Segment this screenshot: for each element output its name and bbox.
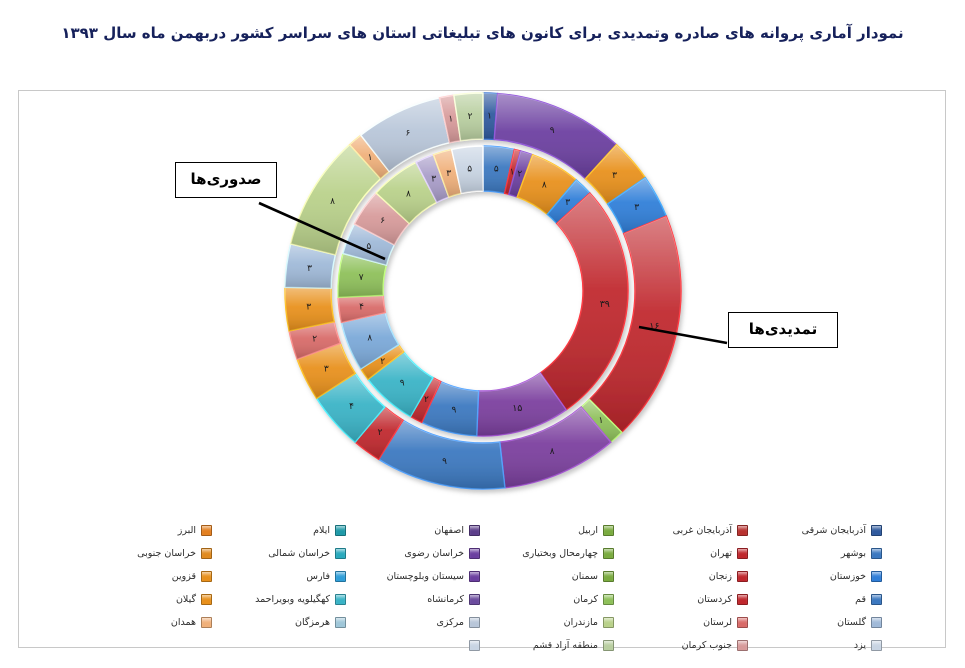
legend-item[interactable]: تهران [618, 542, 748, 565]
legend-item[interactable]: خراسان شمالی [216, 542, 346, 565]
legend-item-label: آذربایجان غربی [673, 525, 732, 536]
legend-color-swatch [737, 571, 748, 582]
legend-item[interactable]: گیلان [82, 588, 212, 611]
legend-color-swatch [201, 571, 212, 582]
legend-item-label: تهران [710, 548, 732, 559]
legend-item-label: سمنان [572, 571, 598, 582]
legend-item-label: خراسان شمالی [268, 548, 330, 559]
legend-item-label: قم [855, 594, 866, 605]
legend-color-swatch [603, 617, 614, 628]
legend-color-swatch [335, 594, 346, 605]
legend-item[interactable]: آذربایجان غربی [618, 519, 748, 542]
legend-color-swatch [603, 525, 614, 536]
legend-item-label: آذربایجان شرقی [802, 525, 866, 536]
legend-item[interactable]: گلستان [752, 611, 882, 634]
legend-item-label: مرکزی [436, 617, 464, 628]
legend-item-label: زنجان [709, 571, 732, 582]
legend-item[interactable]: ایلام [216, 519, 346, 542]
legend-item[interactable]: فارس [216, 565, 346, 588]
legend-color-swatch [871, 640, 882, 651]
legend-item[interactable]: زنجان [618, 565, 748, 588]
legend-item[interactable]: کهگیلویه وبویراحمد [216, 588, 346, 611]
legend-color-swatch [737, 640, 748, 651]
legend-color-swatch [603, 548, 614, 559]
legend-color-swatch [737, 548, 748, 559]
legend-color-swatch [335, 571, 346, 582]
legend-item[interactable]: بوشهر [752, 542, 882, 565]
legend-item-label: خراسان رضوی [404, 548, 464, 559]
legend-item-label: اصفهان [434, 525, 464, 536]
legend-item-label: خوزستان [830, 571, 866, 582]
legend-item[interactable]: البرز [82, 519, 212, 542]
legend-color-swatch [737, 525, 748, 536]
legend-color-swatch [871, 525, 882, 536]
legend-item-label: کرمان [573, 594, 598, 605]
legend-item[interactable]: کردستان [618, 588, 748, 611]
legend-item-label: قزوین [172, 571, 196, 582]
legend-color-swatch [603, 594, 614, 605]
legend-item[interactable]: آذربایجان شرقی [752, 519, 882, 542]
legend-color-swatch [469, 640, 480, 651]
legend-item[interactable]: سمنان [484, 565, 614, 588]
donut-chart-svg: ۱۹۳۳۱۶۱۸۹۲۴۳۲۳۳۸۱۶۱۲ ۵۱۲۸۳۳۹۱۵۹۲۹۲۸۴۷۵۶۸… [19, 91, 947, 506]
legend-color-swatch [201, 617, 212, 628]
legend-color-swatch [871, 617, 882, 628]
legend-item-label: مازندران [564, 617, 598, 628]
legend-color-swatch [737, 617, 748, 628]
legend-color-swatch [871, 571, 882, 582]
legend-color-swatch [469, 525, 480, 536]
callout-tamdidi: تمدیدی‌ها [728, 312, 838, 348]
chart-legend: آذربایجان شرقیآذربایجان غربیاربیلاصفهانا… [19, 509, 945, 645]
legend-item[interactable]: خراسان جنوبی [82, 542, 212, 565]
legend-item[interactable]: هرمزگان [216, 611, 346, 634]
legend-item[interactable]: منطقه آزاد قشم [484, 634, 614, 657]
legend-item[interactable]: قم [752, 588, 882, 611]
legend-item-label: منطقه آزاد قشم [533, 640, 598, 651]
legend-item[interactable]: کرمان [484, 588, 614, 611]
legend-item[interactable]: سیستان وبلوچستان [350, 565, 480, 588]
legend-item[interactable]: اصفهان [350, 519, 480, 542]
legend-color-swatch [335, 617, 346, 628]
legend-color-swatch [871, 548, 882, 559]
legend-item[interactable] [350, 634, 480, 657]
legend-item-label: فارس [306, 571, 330, 582]
legend-color-swatch [469, 571, 480, 582]
legend-item[interactable]: یزد [752, 634, 882, 657]
legend-color-swatch [871, 594, 882, 605]
legend-color-swatch [603, 571, 614, 582]
legend-item[interactable]: خوزستان [752, 565, 882, 588]
legend-color-swatch [201, 525, 212, 536]
legend-item-label: ایلام [313, 525, 330, 536]
legend-item-label: کهگیلویه وبویراحمد [255, 594, 330, 605]
legend-color-swatch [201, 548, 212, 559]
legend-item-label: لرستان [703, 617, 732, 628]
legend-color-swatch [603, 640, 614, 651]
legend-item[interactable]: کرمانشاه [350, 588, 480, 611]
legend-item-label: گلستان [837, 617, 866, 628]
legend-item-label: جنوب کرمان [682, 640, 732, 651]
chart-title: نمودار آماری پروانه های صادره وتمدیدی بر… [0, 22, 965, 45]
legend-item[interactable]: قزوین [82, 565, 212, 588]
legend-item-label: یزد [854, 640, 866, 651]
donut-chart: ۱۹۳۳۱۶۱۸۹۲۴۳۲۳۳۸۱۶۱۲ ۵۱۲۸۳۳۹۱۵۹۲۹۲۸۴۷۵۶۸… [19, 91, 947, 506]
legend-item-label: کردستان [697, 594, 732, 605]
legend-item-label: گیلان [176, 594, 196, 605]
legend-item-label: البرز [178, 525, 196, 536]
legend-color-swatch [335, 525, 346, 536]
legend-item[interactable]: مازندران [484, 611, 614, 634]
legend-item-label: همدان [171, 617, 196, 628]
legend-color-swatch [737, 594, 748, 605]
legend-item-label: سیستان وبلوچستان [387, 571, 464, 582]
legend-color-swatch [469, 617, 480, 628]
callout-sodouri: صدوری‌ها [175, 162, 277, 198]
chart-plot-frame: ۱۹۳۳۱۶۱۸۹۲۴۳۲۳۳۸۱۶۱۲ ۵۱۲۸۳۳۹۱۵۹۲۹۲۸۴۷۵۶۸… [18, 90, 946, 648]
legend-color-swatch [469, 594, 480, 605]
legend-item[interactable]: جنوب کرمان [618, 634, 748, 657]
legend-item[interactable]: اربیل [484, 519, 614, 542]
legend-color-swatch [201, 594, 212, 605]
legend-item-label: کرمانشاه [427, 594, 464, 605]
legend-item-label: اربیل [578, 525, 598, 536]
legend-item-label: چهارمحال وبختیاری [522, 548, 598, 559]
legend-item[interactable]: لرستان [618, 611, 748, 634]
legend-color-swatch [469, 548, 480, 559]
legend-item[interactable]: مرکزی [350, 611, 480, 634]
legend-item-label: هرمزگان [295, 617, 330, 628]
legend-item[interactable]: همدان [82, 611, 212, 634]
legend-item[interactable]: چهارمحال وبختیاری [484, 542, 614, 565]
legend-item-label: خراسان جنوبی [137, 548, 196, 559]
legend-color-swatch [335, 548, 346, 559]
legend-item[interactable]: خراسان رضوی [350, 542, 480, 565]
legend-grid: آذربایجان شرقیآذربایجان غربیاربیلاصفهانا… [19, 519, 945, 657]
legend-item-label: بوشهر [841, 548, 866, 559]
inner-ring-sodouri [338, 146, 628, 436]
